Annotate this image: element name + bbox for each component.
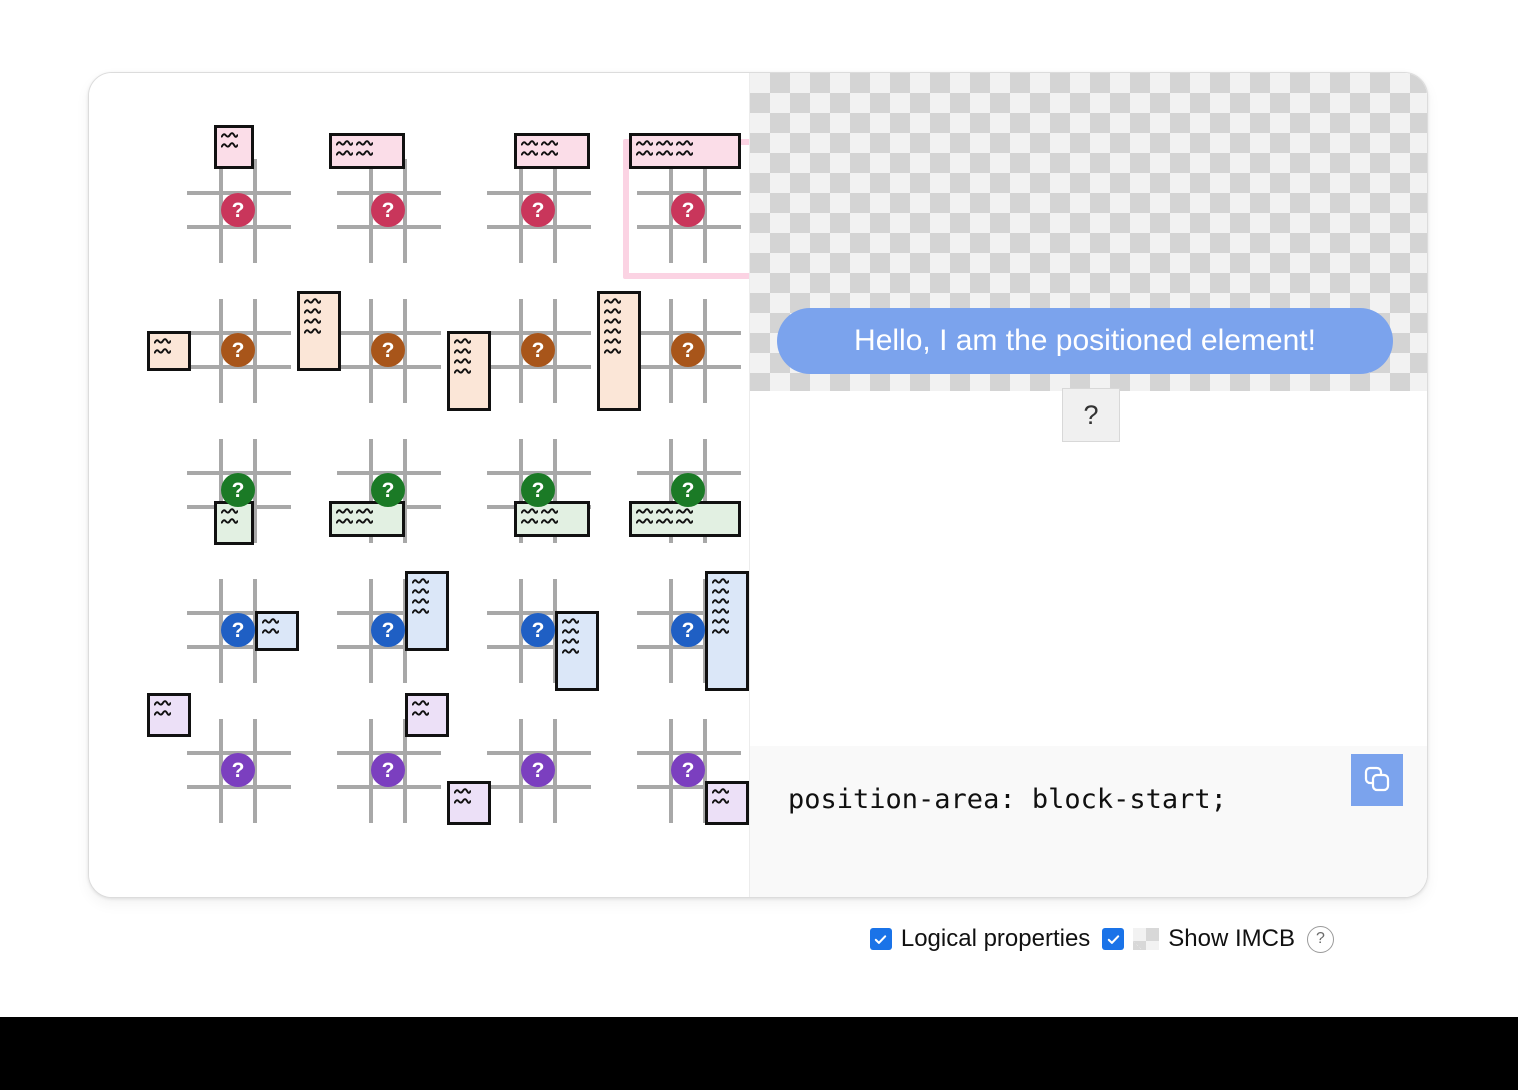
text-line bbox=[712, 628, 742, 635]
text-line bbox=[636, 150, 734, 157]
text-line bbox=[304, 328, 334, 335]
squiggle-glyph bbox=[521, 508, 538, 515]
positioned-box bbox=[147, 331, 191, 371]
position-area-cell-inline-start-2[interactable]: ? bbox=[473, 279, 605, 419]
squiggle-glyph bbox=[521, 140, 538, 147]
positioned-box bbox=[255, 611, 299, 651]
squiggle-glyph bbox=[336, 508, 353, 515]
containing-block-grid: ? bbox=[187, 299, 291, 403]
squiggle-glyph bbox=[221, 132, 238, 139]
positioned-box bbox=[405, 571, 449, 651]
position-area-cell-inline-start-0[interactable]: ? bbox=[173, 279, 305, 419]
options-bar: Logical propertiesShow IMCB? bbox=[0, 925, 1426, 953]
position-area-cell-block-end-1[interactable]: ? bbox=[323, 419, 455, 559]
text-line bbox=[412, 578, 442, 585]
cell-inner: ? bbox=[629, 285, 749, 413]
text-line bbox=[221, 508, 247, 515]
text-line bbox=[604, 308, 634, 315]
positioned-box bbox=[147, 693, 191, 737]
control-logical-properties[interactable]: Logical properties bbox=[870, 925, 1090, 953]
text-line bbox=[712, 598, 742, 605]
squiggle-glyph bbox=[562, 618, 579, 625]
text-line bbox=[454, 788, 484, 795]
squiggle-glyph bbox=[541, 518, 558, 525]
containing-block-grid: ? bbox=[637, 719, 741, 823]
containing-block-grid: ? bbox=[487, 159, 591, 263]
cell-inner: ? bbox=[179, 285, 299, 413]
containing-block-grid: ? bbox=[187, 719, 291, 823]
containing-block-grid: ? bbox=[487, 299, 591, 403]
positioned-box bbox=[629, 133, 741, 169]
squiggle-glyph bbox=[454, 368, 471, 375]
positioned-box bbox=[597, 291, 641, 411]
text-line bbox=[412, 700, 442, 707]
squiggle-glyph bbox=[221, 142, 238, 149]
squiggle-glyph bbox=[336, 518, 353, 525]
position-area-cell-inline-end-1[interactable]: ? bbox=[323, 559, 455, 699]
checkbox-logical-properties[interactable] bbox=[870, 928, 892, 950]
cell-inner: ? bbox=[179, 565, 299, 693]
squiggle-glyph bbox=[712, 608, 729, 615]
anchor-dot-icon: ? bbox=[671, 753, 705, 787]
positioned-box bbox=[297, 291, 341, 371]
squiggle-glyph bbox=[541, 140, 558, 147]
label-logical-properties: Logical properties bbox=[901, 925, 1090, 953]
squiggle-glyph bbox=[304, 308, 321, 315]
imcb-swatch-icon bbox=[1133, 928, 1159, 950]
containing-block-grid: ? bbox=[337, 439, 441, 543]
text-line bbox=[604, 328, 634, 335]
position-area-picker: ???????????????????? bbox=[89, 73, 749, 897]
text-line bbox=[221, 142, 247, 149]
squiggle-glyph bbox=[604, 298, 621, 305]
text-line bbox=[336, 518, 398, 525]
copy-icon bbox=[1362, 764, 1392, 797]
squiggle-glyph bbox=[154, 348, 171, 355]
containing-block-grid: ? bbox=[487, 579, 591, 683]
squiggle-glyph bbox=[304, 328, 321, 335]
text-line bbox=[221, 132, 247, 139]
text-line bbox=[454, 338, 484, 345]
squiggle-glyph bbox=[304, 318, 321, 325]
positioned-element: Hello, I am the positioned element! bbox=[777, 308, 1393, 374]
squiggle-glyph bbox=[656, 150, 673, 157]
squiggle-glyph bbox=[262, 618, 279, 625]
squiggle-glyph bbox=[356, 518, 373, 525]
squiggle-glyph bbox=[454, 358, 471, 365]
positioned-box bbox=[705, 571, 749, 691]
text-line bbox=[154, 710, 184, 717]
squiggle-glyph bbox=[604, 308, 621, 315]
squiggle-glyph bbox=[356, 150, 373, 157]
squiggle-glyph bbox=[712, 788, 729, 795]
text-line bbox=[412, 588, 442, 595]
squiggle-glyph bbox=[712, 588, 729, 595]
containing-block-grid: ? bbox=[187, 439, 291, 543]
position-area-cell-block-end-2[interactable]: ? bbox=[473, 419, 605, 559]
squiggle-glyph bbox=[636, 140, 653, 147]
position-area-cell-block-end-0[interactable]: ? bbox=[173, 419, 305, 559]
text-line bbox=[712, 578, 742, 585]
positioned-box bbox=[214, 501, 254, 545]
anchor-dot-icon: ? bbox=[671, 193, 705, 227]
text-line bbox=[454, 368, 484, 375]
squiggle-glyph bbox=[336, 150, 353, 157]
text-line bbox=[336, 508, 398, 515]
cell-inner: ? bbox=[179, 145, 299, 273]
squiggle-glyph bbox=[712, 798, 729, 805]
anchor-dot-icon: ? bbox=[371, 333, 405, 367]
containing-block-grid: ? bbox=[637, 159, 741, 263]
anchor-dot-icon: ? bbox=[671, 473, 705, 507]
cell-inner: ? bbox=[629, 425, 749, 553]
squiggle-glyph bbox=[336, 140, 353, 147]
squiggle-glyph bbox=[412, 588, 429, 595]
squiggle-glyph bbox=[562, 628, 579, 635]
squiggle-glyph bbox=[541, 150, 558, 157]
text-line bbox=[521, 518, 583, 525]
text-line bbox=[636, 140, 734, 147]
positioned-box bbox=[447, 331, 491, 411]
text-line bbox=[712, 618, 742, 625]
squiggle-glyph bbox=[454, 788, 471, 795]
squiggle-glyph bbox=[636, 508, 653, 515]
control-show-imcb[interactable]: Show IMCB bbox=[1102, 925, 1295, 953]
squiggle-glyph bbox=[412, 700, 429, 707]
text-line bbox=[604, 298, 634, 305]
containing-block-grid: ? bbox=[337, 579, 441, 683]
text-line bbox=[154, 700, 184, 707]
squiggle-glyph bbox=[304, 298, 321, 305]
cell-inner: ? bbox=[179, 705, 299, 833]
anchor-dot-icon: ? bbox=[521, 613, 555, 647]
anchor-dot-icon: ? bbox=[221, 613, 255, 647]
containing-block-grid: ? bbox=[487, 719, 591, 823]
squiggle-glyph bbox=[356, 140, 373, 147]
text-line bbox=[262, 618, 292, 625]
text-line bbox=[154, 348, 184, 355]
squiggle-glyph bbox=[154, 700, 171, 707]
squiggle-glyph bbox=[412, 608, 429, 615]
anchor-dot-icon: ? bbox=[221, 753, 255, 787]
cell-inner: ? bbox=[629, 565, 749, 693]
anchor-dot-icon: ? bbox=[221, 473, 255, 507]
anchor-dot-icon: ? bbox=[221, 193, 255, 227]
app-root: ???????????????????? Hello, I am the pos… bbox=[0, 0, 1518, 1090]
text-line bbox=[712, 608, 742, 615]
text-line bbox=[562, 638, 592, 645]
position-area-cell-block-start-3[interactable]: ? bbox=[623, 139, 755, 279]
position-area-cell-inline-start-3[interactable]: ? bbox=[623, 279, 755, 419]
text-line bbox=[304, 318, 334, 325]
squiggle-glyph bbox=[636, 518, 653, 525]
anchor-dot-icon: ? bbox=[671, 613, 705, 647]
text-line bbox=[636, 518, 734, 525]
squiggle-glyph bbox=[521, 518, 538, 525]
anchor-dot-icon: ? bbox=[521, 193, 555, 227]
text-line bbox=[412, 608, 442, 615]
containing-block-grid: ? bbox=[637, 579, 741, 683]
position-area-cell-block-end-3[interactable]: ? bbox=[623, 419, 755, 559]
squiggle-glyph bbox=[412, 710, 429, 717]
code-panel: position-area: block-start; bbox=[750, 746, 1427, 897]
squiggle-glyph bbox=[604, 338, 621, 345]
cell-inner: ? bbox=[329, 565, 449, 693]
cell-inner: ? bbox=[479, 565, 599, 693]
squiggle-glyph bbox=[604, 318, 621, 325]
position-area-grid[interactable]: ???????????????????? bbox=[173, 139, 755, 839]
positioned-box bbox=[214, 125, 254, 169]
anchor-element[interactable]: ? bbox=[1062, 388, 1120, 442]
squiggle-glyph bbox=[604, 348, 621, 355]
squiggle-glyph bbox=[676, 518, 693, 525]
squiggle-glyph bbox=[656, 508, 673, 515]
code-snippet: position-area: block-start; bbox=[788, 784, 1227, 815]
squiggle-glyph bbox=[154, 338, 171, 345]
page-bottom-bar bbox=[0, 1017, 1518, 1090]
squiggle-glyph bbox=[676, 150, 693, 157]
cell-inner: ? bbox=[479, 705, 599, 833]
text-line bbox=[454, 348, 484, 355]
anchor-dot-icon: ? bbox=[521, 473, 555, 507]
text-line bbox=[604, 338, 634, 345]
position-area-cell-corners-2[interactable]: ? bbox=[473, 699, 605, 839]
squiggle-glyph bbox=[562, 638, 579, 645]
position-area-cell-inline-end-3[interactable]: ? bbox=[623, 559, 755, 699]
text-line bbox=[454, 798, 484, 805]
help-icon[interactable]: ? bbox=[1307, 926, 1334, 953]
text-line bbox=[412, 710, 442, 717]
positioned-box bbox=[329, 133, 405, 169]
text-line bbox=[336, 140, 398, 147]
squiggle-glyph bbox=[676, 140, 693, 147]
squiggle-glyph bbox=[712, 578, 729, 585]
squiggle-glyph bbox=[676, 508, 693, 515]
positioned-box bbox=[447, 781, 491, 825]
cell-inner: ? bbox=[479, 145, 599, 273]
text-line bbox=[636, 508, 734, 515]
squiggle-glyph bbox=[454, 348, 471, 355]
positioned-box bbox=[329, 501, 405, 537]
cell-inner: ? bbox=[629, 145, 749, 273]
position-area-cell-inline-end-2[interactable]: ? bbox=[473, 559, 605, 699]
squiggle-glyph bbox=[604, 328, 621, 335]
cell-inner: ? bbox=[329, 425, 449, 553]
squiggle-glyph bbox=[712, 618, 729, 625]
text-line bbox=[412, 598, 442, 605]
squiggle-glyph bbox=[412, 598, 429, 605]
squiggle-glyph bbox=[454, 798, 471, 805]
containing-block-grid: ? bbox=[187, 579, 291, 683]
text-line bbox=[154, 338, 184, 345]
squiggle-glyph bbox=[656, 518, 673, 525]
squiggle-glyph bbox=[221, 508, 238, 515]
positioned-box bbox=[514, 501, 590, 537]
cell-inner: ? bbox=[329, 285, 449, 413]
text-line bbox=[562, 648, 592, 655]
text-line bbox=[562, 618, 592, 625]
text-line bbox=[521, 150, 583, 157]
containing-block-grid: ? bbox=[187, 159, 291, 263]
preview-panel: Hello, I am the positioned element! ? po… bbox=[749, 73, 1427, 897]
containing-block-grid: ? bbox=[337, 719, 441, 823]
anchor-dot-icon: ? bbox=[521, 333, 555, 367]
positioned-box bbox=[705, 781, 749, 825]
cell-inner: ? bbox=[629, 705, 749, 833]
text-line bbox=[521, 140, 583, 147]
squiggle-glyph bbox=[636, 150, 653, 157]
text-line bbox=[712, 788, 742, 795]
cell-inner: ? bbox=[479, 285, 599, 413]
positioned-box bbox=[555, 611, 599, 691]
text-line bbox=[562, 628, 592, 635]
text-line bbox=[304, 308, 334, 315]
anchor-dot-icon: ? bbox=[371, 193, 405, 227]
position-area-cell-corners-0[interactable]: ? bbox=[173, 699, 305, 839]
containing-block-grid: ? bbox=[637, 439, 741, 543]
text-line bbox=[336, 150, 398, 157]
anchor-dot-icon: ? bbox=[521, 753, 555, 787]
positioned-box bbox=[405, 693, 449, 737]
position-area-cell-block-start-1[interactable]: ? bbox=[323, 139, 455, 279]
position-area-cell-inline-end-0[interactable]: ? bbox=[173, 559, 305, 699]
label-show-imcb: Show IMCB bbox=[1168, 925, 1295, 953]
positioned-box bbox=[514, 133, 590, 169]
squiggle-glyph bbox=[712, 628, 729, 635]
squiggle-glyph bbox=[712, 598, 729, 605]
squiggle-glyph bbox=[154, 710, 171, 717]
text-line bbox=[521, 508, 583, 515]
position-area-cell-corners-1[interactable]: ? bbox=[323, 699, 455, 839]
position-area-cell-block-start-2[interactable]: ? bbox=[473, 139, 605, 279]
containing-block-grid: ? bbox=[337, 299, 441, 403]
text-line bbox=[604, 318, 634, 325]
text-line bbox=[712, 588, 742, 595]
checkbox-show-imcb[interactable] bbox=[1102, 928, 1124, 950]
cell-inner: ? bbox=[179, 425, 299, 553]
text-line bbox=[262, 628, 292, 635]
text-line bbox=[454, 358, 484, 365]
squiggle-glyph bbox=[454, 338, 471, 345]
anchor-dot-icon: ? bbox=[371, 473, 405, 507]
anchor-dot-icon: ? bbox=[371, 753, 405, 787]
cell-inner: ? bbox=[329, 705, 449, 833]
squiggle-glyph bbox=[656, 140, 673, 147]
copy-button[interactable] bbox=[1351, 754, 1403, 806]
squiggle-glyph bbox=[221, 518, 238, 525]
squiggle-glyph bbox=[541, 508, 558, 515]
main-card: ???????????????????? Hello, I am the pos… bbox=[88, 72, 1428, 898]
cell-inner: ? bbox=[329, 145, 449, 273]
text-line bbox=[712, 798, 742, 805]
squiggle-glyph bbox=[521, 150, 538, 157]
text-line bbox=[304, 298, 334, 305]
position-area-cell-corners-3[interactable]: ? bbox=[623, 699, 755, 839]
anchor-dot-icon: ? bbox=[671, 333, 705, 367]
cell-inner: ? bbox=[479, 425, 599, 553]
squiggle-glyph bbox=[262, 628, 279, 635]
squiggle-glyph bbox=[562, 648, 579, 655]
position-area-cell-inline-start-1[interactable]: ? bbox=[323, 279, 455, 419]
position-area-cell-block-start-0[interactable]: ? bbox=[173, 139, 305, 279]
text-line bbox=[221, 518, 247, 525]
squiggle-glyph bbox=[356, 508, 373, 515]
squiggle-glyph bbox=[412, 578, 429, 585]
text-line bbox=[604, 348, 634, 355]
anchor-dot-icon: ? bbox=[221, 333, 255, 367]
containing-block-grid: ? bbox=[487, 439, 591, 543]
anchor-dot-icon: ? bbox=[371, 613, 405, 647]
containing-block-grid: ? bbox=[337, 159, 441, 263]
containing-block-grid: ? bbox=[637, 299, 741, 403]
